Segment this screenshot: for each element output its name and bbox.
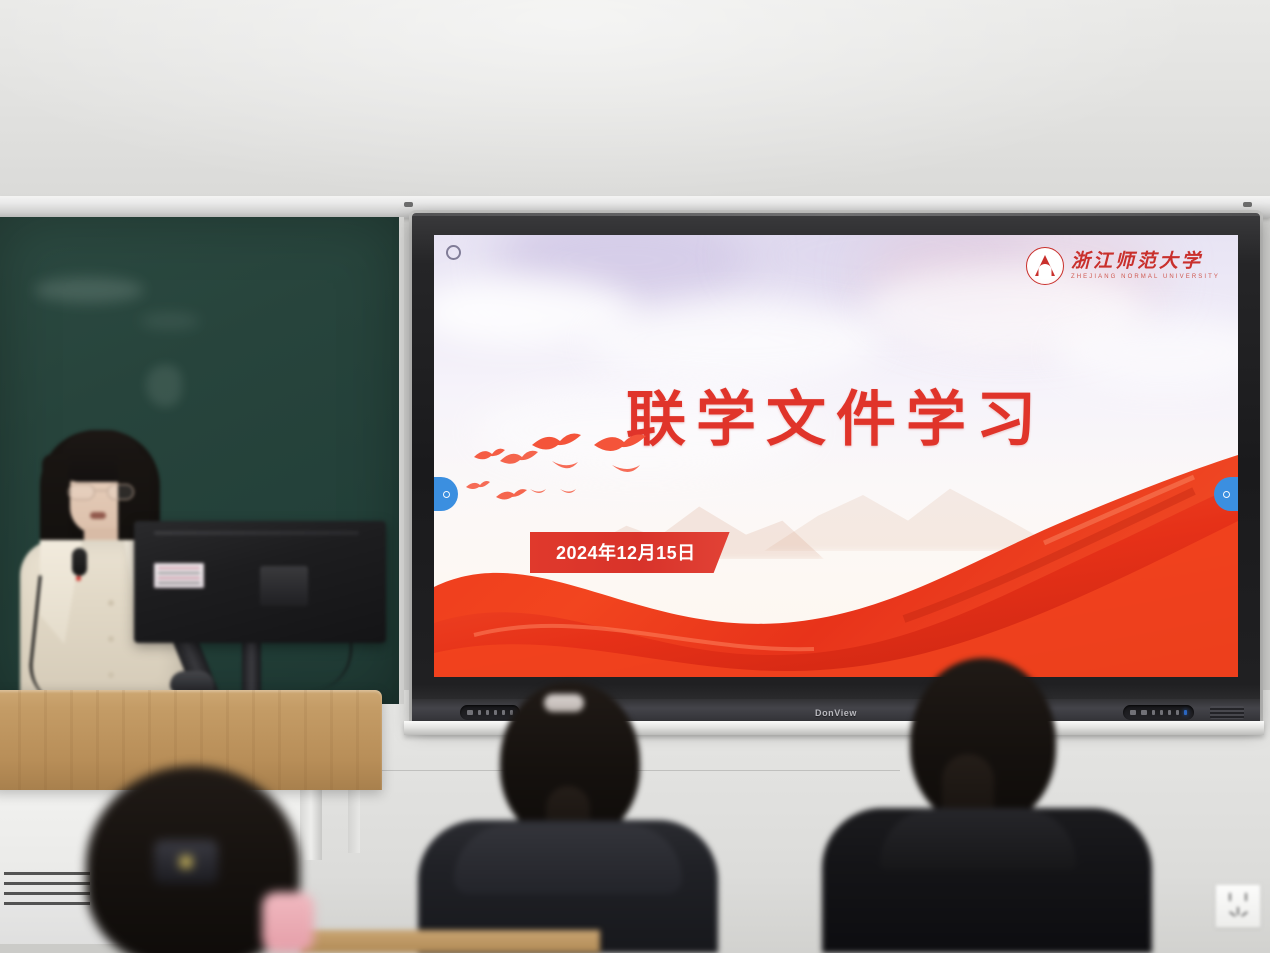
wall-upper bbox=[0, 0, 1270, 215]
classroom-scene: 浙江师范大学 ZHEJIANG NORMAL UNIVERSITY 联学文件学习 bbox=[0, 0, 1270, 953]
audience-member-right bbox=[822, 658, 1152, 953]
power-outlet-icon bbox=[1215, 884, 1261, 928]
university-crest-icon bbox=[1026, 247, 1064, 285]
speaker-grille-icon bbox=[1210, 706, 1244, 719]
power-led-icon bbox=[1184, 710, 1187, 715]
university-name-cn: 浙江师范大学 bbox=[1071, 252, 1220, 272]
university-logo: 浙江师范大学 ZHEJIANG NORMAL UNIVERSITY bbox=[1026, 247, 1220, 285]
university-name-en: ZHEJIANG NORMAL UNIVERSITY bbox=[1071, 274, 1220, 280]
hair-clip-icon bbox=[154, 840, 218, 884]
bezel-highlight bbox=[412, 213, 1260, 216]
red-silk-ribbon bbox=[434, 447, 1238, 677]
inventory-sticker-icon bbox=[154, 563, 204, 588]
pink-garment bbox=[262, 892, 314, 952]
interactive-flat-panel[interactable]: 浙江师范大学 ZHEJIANG NORMAL UNIVERSITY 联学文件学习 bbox=[412, 213, 1260, 725]
cloud bbox=[584, 301, 884, 381]
eyeglasses-icon bbox=[68, 484, 134, 500]
audience-member-foreground bbox=[76, 766, 356, 953]
audience-member-center bbox=[418, 682, 718, 953]
annotation-circle-icon[interactable] bbox=[446, 245, 461, 260]
display-screen[interactable]: 浙江师范大学 ZHEJIANG NORMAL UNIVERSITY 联学文件学习 bbox=[434, 235, 1238, 677]
monitor-rear-icon bbox=[134, 521, 386, 696]
presentation-slide: 浙江师范大学 ZHEJIANG NORMAL UNIVERSITY 联学文件学习 bbox=[434, 235, 1238, 677]
